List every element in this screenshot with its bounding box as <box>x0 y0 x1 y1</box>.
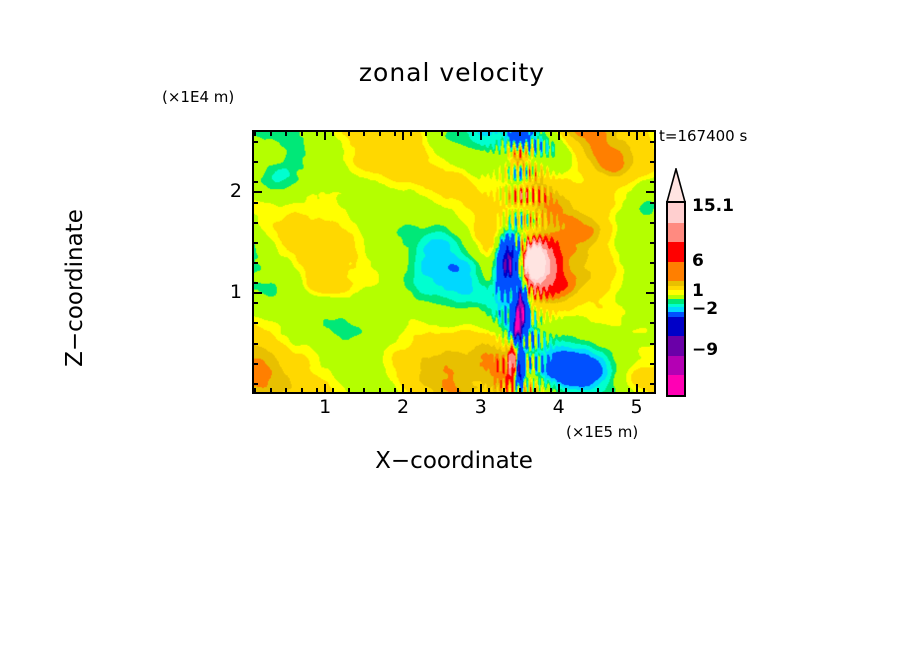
x-tick-label: 5 <box>622 396 652 418</box>
axis-tick <box>472 130 474 136</box>
axis-tick <box>402 130 404 140</box>
axis-tick <box>379 388 381 394</box>
axis-tick <box>252 262 258 264</box>
axis-tick <box>252 363 258 365</box>
axis-tick <box>301 130 303 136</box>
axis-tick <box>650 363 656 365</box>
x-tick-label: 4 <box>544 396 574 418</box>
axis-tick <box>252 282 258 284</box>
axis-tick <box>332 388 334 394</box>
axis-tick <box>650 383 656 385</box>
y-axis-unit-label: (×1E4 m) <box>162 88 234 106</box>
axis-tick <box>565 388 567 394</box>
axis-tick <box>252 141 258 143</box>
axis-tick <box>550 388 552 394</box>
axis-tick <box>480 384 482 394</box>
axis-tick <box>650 161 656 163</box>
axis-tick <box>650 282 656 284</box>
axis-tick <box>425 388 427 394</box>
axis-tick <box>324 130 326 140</box>
colorbar-bands <box>666 201 686 397</box>
axis-tick <box>650 222 656 224</box>
axis-tick <box>252 161 258 163</box>
axis-tick <box>534 388 536 394</box>
axis-tick <box>643 130 645 136</box>
colorbar-label: 15.1 <box>692 196 734 216</box>
axis-tick <box>252 322 258 324</box>
axis-tick <box>324 384 326 394</box>
axis-tick <box>252 292 262 294</box>
colorbar-label: −9 <box>692 340 718 360</box>
axis-tick <box>650 202 656 204</box>
axis-tick <box>254 130 256 136</box>
axis-tick <box>612 130 614 136</box>
axis-tick <box>488 130 490 136</box>
axis-tick <box>650 322 656 324</box>
axis-tick <box>252 181 258 183</box>
axis-tick <box>650 343 656 345</box>
axis-tick <box>363 130 365 136</box>
axis-tick <box>646 191 656 193</box>
axis-tick <box>646 292 656 294</box>
axis-tick <box>650 262 656 264</box>
axis-tick <box>348 130 350 136</box>
contour-field-canvas <box>254 132 654 392</box>
colorbar-label: −2 <box>692 299 718 319</box>
axis-tick <box>597 388 599 394</box>
axis-tick <box>628 130 630 136</box>
colorbar-label: 6 <box>692 251 704 271</box>
colorbar-band <box>668 242 684 262</box>
axis-tick <box>332 130 334 136</box>
colorbar-band <box>668 317 684 337</box>
axis-tick <box>643 388 645 394</box>
axis-tick <box>252 242 258 244</box>
axis-tick <box>628 388 630 394</box>
x-axis-unit-label: (×1E5 m) <box>566 423 638 441</box>
axis-tick <box>410 388 412 394</box>
axis-tick <box>519 388 521 394</box>
axis-tick <box>402 384 404 394</box>
axis-tick <box>612 388 614 394</box>
y-axis-title: Z−coordinate <box>62 188 88 388</box>
axis-tick <box>348 388 350 394</box>
axis-tick <box>503 130 505 136</box>
axis-tick <box>379 130 381 136</box>
axis-tick <box>252 191 262 193</box>
axis-tick <box>252 202 258 204</box>
timestamp-annotation: t=167400 s <box>659 127 747 145</box>
axis-tick <box>650 302 656 304</box>
axis-tick <box>581 388 583 394</box>
axis-tick <box>252 343 258 345</box>
x-tick-label: 3 <box>466 396 496 418</box>
colorbar-band <box>668 336 684 356</box>
page-title: zonal velocity <box>0 58 904 87</box>
axis-tick <box>254 388 256 394</box>
x-axis-title: X−coordinate <box>252 448 656 474</box>
axis-tick <box>285 130 287 136</box>
axis-tick <box>488 388 490 394</box>
axis-tick <box>410 130 412 136</box>
axis-tick <box>581 130 583 136</box>
axis-tick <box>394 388 396 394</box>
axis-tick <box>503 388 505 394</box>
axis-tick <box>534 130 536 136</box>
axis-tick <box>270 130 272 136</box>
colorbar-band <box>668 262 684 282</box>
axis-tick <box>636 384 638 394</box>
y-tick-label: 1 <box>216 281 242 303</box>
axis-tick <box>425 130 427 136</box>
colorbar-band <box>668 203 684 223</box>
colorbar-arrow-icon <box>663 168 689 202</box>
axis-tick <box>636 130 638 140</box>
axis-tick <box>363 388 365 394</box>
axis-tick <box>650 242 656 244</box>
axis-tick <box>597 130 599 136</box>
axis-tick <box>252 383 258 385</box>
contour-plot-area <box>252 130 656 394</box>
axis-tick <box>316 388 318 394</box>
axis-tick <box>650 141 656 143</box>
axis-tick <box>394 130 396 136</box>
axis-tick <box>457 388 459 394</box>
axis-tick <box>301 388 303 394</box>
axis-tick <box>285 388 287 394</box>
colorbar-band <box>668 375 684 395</box>
colorbar-label: 1 <box>692 281 704 301</box>
axis-tick <box>558 384 560 394</box>
colorbar <box>663 168 689 400</box>
axis-tick <box>558 130 560 140</box>
axis-tick <box>480 130 482 140</box>
colorbar-band <box>668 356 684 376</box>
axis-tick <box>252 222 258 224</box>
axis-tick <box>519 130 521 136</box>
axis-tick <box>457 130 459 136</box>
y-tick-label: 2 <box>216 180 242 202</box>
x-tick-label: 1 <box>310 396 340 418</box>
axis-tick <box>441 130 443 136</box>
axis-tick <box>441 388 443 394</box>
x-tick-label: 2 <box>388 396 418 418</box>
axis-tick <box>316 130 318 136</box>
axis-tick <box>472 388 474 394</box>
axis-tick <box>270 388 272 394</box>
colorbar-band <box>668 223 684 243</box>
axis-tick <box>252 302 258 304</box>
axis-tick <box>565 130 567 136</box>
axis-tick <box>550 130 552 136</box>
axis-tick <box>650 181 656 183</box>
